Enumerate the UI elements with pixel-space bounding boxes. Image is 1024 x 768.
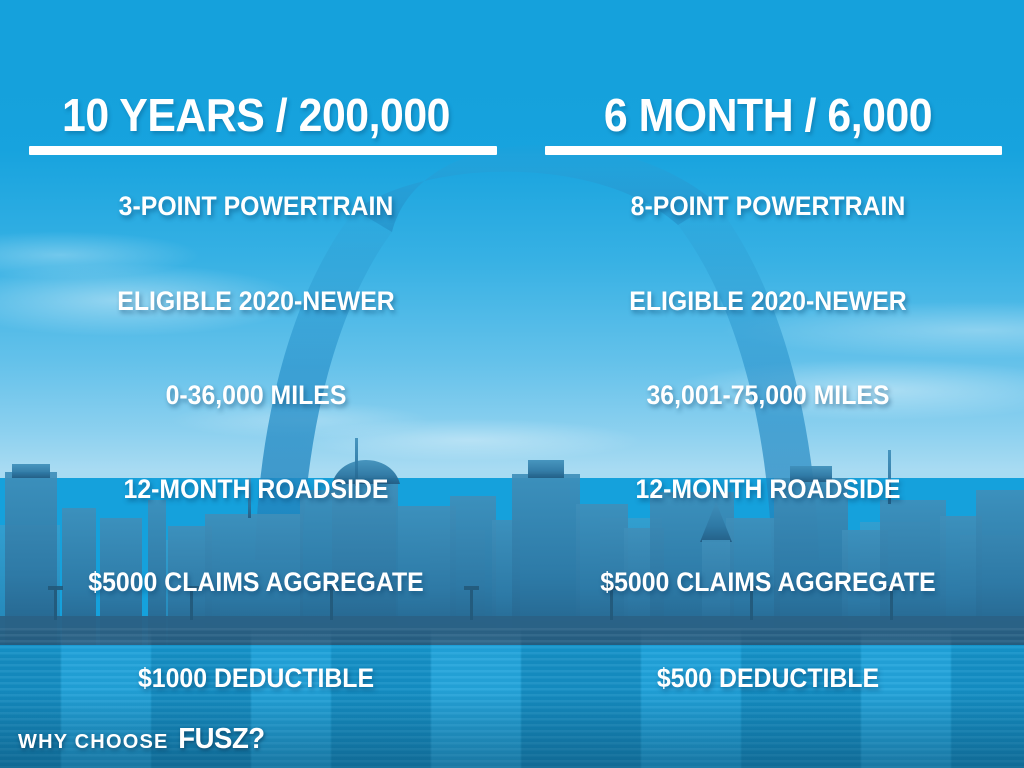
feature-left-4: 12-MONTH ROADSIDE bbox=[20, 473, 491, 505]
feature-right-2: ELIGIBLE 2020-NEWER bbox=[532, 285, 1003, 317]
feature-right-1: 8-POINT POWERTRAIN bbox=[532, 190, 1003, 222]
plan-header-underline-left bbox=[29, 146, 497, 155]
feature-left-6: $1000 DEDUCTIBLE bbox=[20, 662, 491, 694]
feature-right-5: $5000 CLAIMS AGGREGATE bbox=[532, 566, 1003, 598]
footer-brand-lockup: WHY CHOOSEFUSZ? bbox=[18, 723, 266, 756]
plan-header-10-year: 10 YEARS / 200,000 bbox=[18, 88, 494, 142]
feature-right-6: $500 DEDUCTIBLE bbox=[532, 662, 1003, 694]
feature-right-4: 12-MONTH ROADSIDE bbox=[532, 473, 1003, 505]
content-overlay: 10 YEARS / 200,000 3-POINT POWERTRAIN EL… bbox=[0, 0, 1024, 768]
promotional-graphic: 10 YEARS / 200,000 3-POINT POWERTRAIN EL… bbox=[0, 0, 1024, 768]
feature-left-1: 3-POINT POWERTRAIN bbox=[20, 190, 491, 222]
feature-left-3: 0-36,000 MILES bbox=[20, 379, 491, 411]
plan-header-6-month: 6 MONTH / 6,000 bbox=[530, 88, 1006, 142]
footer-prefix-text: WHY CHOOSE bbox=[18, 731, 169, 753]
feature-left-2: ELIGIBLE 2020-NEWER bbox=[20, 285, 491, 317]
footer-brand-name: FUSZ? bbox=[178, 723, 264, 756]
feature-left-5: $5000 CLAIMS AGGREGATE bbox=[20, 566, 491, 598]
feature-right-3: 36,001-75,000 MILES bbox=[532, 379, 1003, 411]
plan-column-10-year: 10 YEARS / 200,000 3-POINT POWERTRAIN EL… bbox=[0, 0, 512, 768]
plan-header-underline-right bbox=[545, 146, 1002, 155]
plan-column-6-month: 6 MONTH / 6,000 8-POINT POWERTRAIN ELIGI… bbox=[512, 0, 1024, 768]
